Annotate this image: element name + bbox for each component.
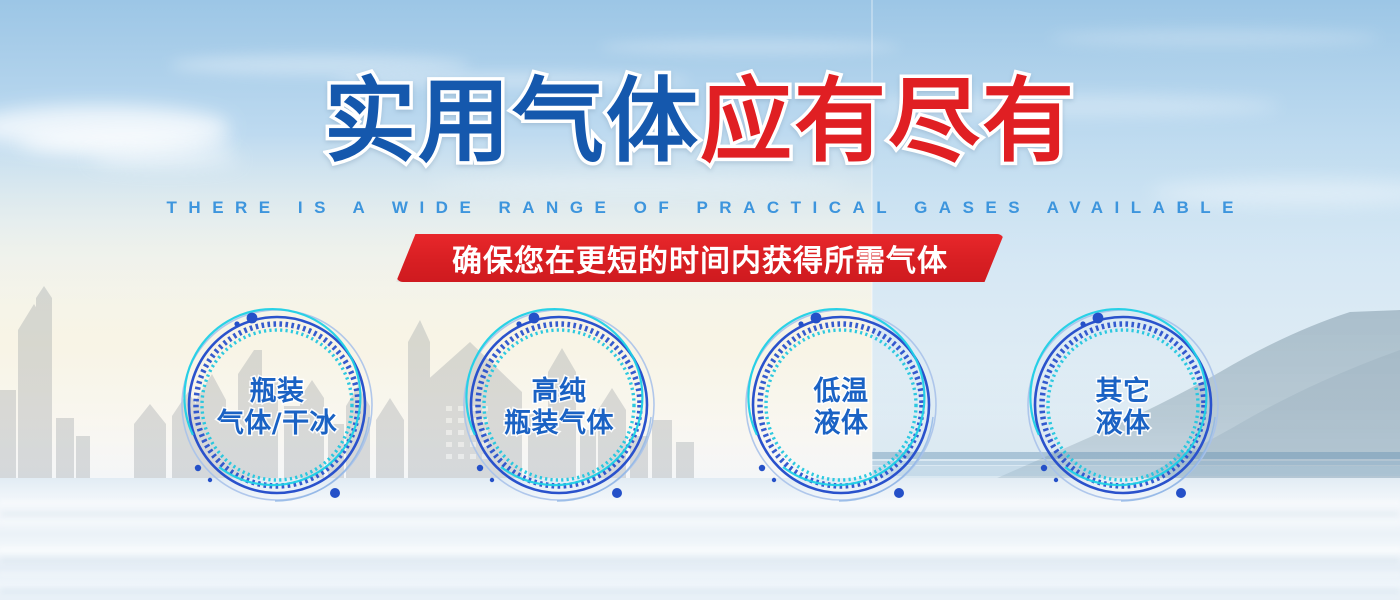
cloud-shape — [1050, 30, 1380, 46]
badge-line-1: 其它 — [1096, 376, 1151, 407]
water-ripple — [0, 512, 1400, 516]
badge-line-1: 高纯 — [532, 376, 587, 407]
badge-line-1: 瓶装 — [250, 376, 305, 407]
headline-blue-text: 实用气体 — [324, 68, 700, 175]
badge-row: 瓶装 气体/干冰 — [0, 305, 1400, 510]
badge-cryogenic-liquid[interactable]: 低温 液体 — [743, 305, 939, 510]
badge-line-2: 液体 — [814, 408, 869, 439]
water-ripple — [0, 546, 1400, 552]
cloud-shape — [600, 40, 900, 54]
water-ripple — [0, 588, 1400, 594]
badge-label: 其它 液体 — [1096, 376, 1151, 439]
badge-bottled-gas-dry-ice[interactable]: 瓶装 气体/干冰 — [179, 305, 375, 510]
ribbon-text: 确保您在更短的时间内获得所需气体 — [452, 236, 948, 280]
badge-line-1: 低温 — [814, 376, 869, 407]
badge-label: 低温 液体 — [814, 376, 869, 439]
badge-high-purity-bottled-gas[interactable]: 高纯 瓶装气体 — [461, 305, 657, 510]
badge-line-2: 气体/干冰 — [217, 408, 337, 439]
water-ripple — [0, 572, 1400, 576]
water-ripple — [0, 522, 1400, 525]
ribbon-container: 确保您在更短的时间内获得所需气体 — [0, 234, 1400, 282]
water-ripple — [0, 558, 1400, 563]
cloud-shape — [430, 175, 850, 193]
subtitle-english: THERE IS A WIDE RANGE OF PRACTICAL GASES… — [0, 198, 1400, 218]
badge-other-liquid[interactable]: 其它 液体 — [1025, 305, 1221, 510]
badge-line-2: 液体 — [1096, 408, 1151, 439]
headline-red-text: 应有尽有 — [700, 68, 1076, 175]
headline: 实用气体应有尽有 — [0, 76, 1400, 168]
promo-banner: 实用气体应有尽有 THERE IS A WIDE RANGE OF PRACTI… — [0, 0, 1400, 600]
badge-label: 瓶装 气体/干冰 — [217, 376, 337, 439]
badge-line-2: 瓶装气体 — [504, 408, 614, 439]
red-ribbon: 确保您在更短的时间内获得所需气体 — [396, 234, 1004, 282]
badge-label: 高纯 瓶装气体 — [504, 376, 614, 439]
